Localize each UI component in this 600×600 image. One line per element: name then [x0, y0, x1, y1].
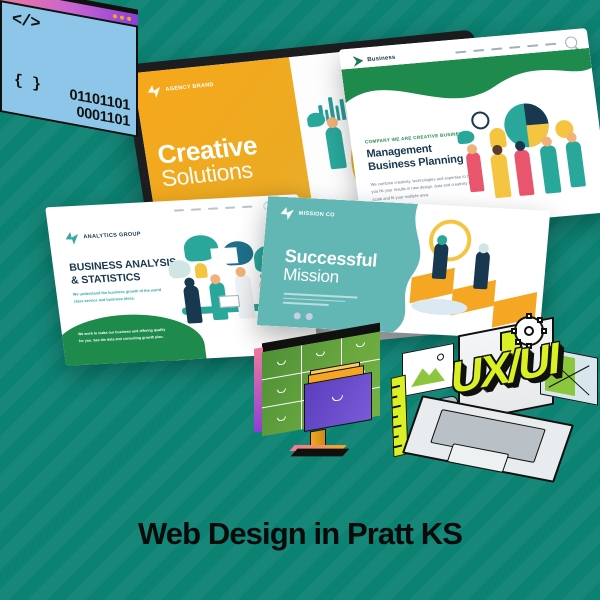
imac-brand-logo: AGENCY BRAND: [147, 72, 282, 98]
laptop-icon: [219, 295, 241, 308]
code-brace-icon: { }: [14, 72, 41, 94]
nav-item-about[interactable]: [191, 208, 201, 211]
mission-logo[interactable]: MISSION CO: [280, 207, 335, 223]
mission-pagination-dots[interactable]: [293, 312, 313, 320]
mgmt-people-illustration: [454, 87, 600, 224]
pie-chart-slice: [524, 102, 549, 126]
ruler-tick: [394, 435, 399, 438]
ruler-tick: [393, 425, 401, 428]
divider: [301, 345, 302, 429]
ba-footer-text: We work to make our business and offerin…: [78, 326, 172, 345]
nav-item-team[interactable]: [225, 206, 235, 209]
pagination-dot[interactable]: [305, 313, 313, 320]
nav-item-about[interactable]: [473, 49, 484, 52]
nav-item-service[interactable]: [208, 207, 218, 210]
imac-headline: Creative Solutions: [156, 129, 296, 191]
drawer-handle[interactable]: [316, 351, 325, 357]
nav-item-portfolio[interactable]: [509, 46, 520, 49]
nav-item-blog[interactable]: [527, 44, 538, 47]
pagination-dot[interactable]: [293, 312, 301, 319]
person-figure: [490, 153, 512, 198]
mission-brand-name: MISSION CO: [298, 211, 335, 219]
speech-bubble-icon: [306, 112, 326, 128]
lightbulb-icon: [194, 263, 208, 278]
poster-canvas: AGENCY BRAND Creative Solutions Digital …: [0, 0, 600, 600]
mgmt-logo-text: Business: [367, 55, 396, 63]
person-figure: [465, 152, 484, 193]
play-arrow-icon: [352, 55, 364, 67]
window-dot[interactable]: [113, 14, 117, 19]
isometric-file-cabinet-monitor[interactable]: [248, 336, 408, 476]
person-figure: [183, 285, 203, 323]
drawer-handle[interactable]: [277, 388, 286, 394]
brand-glyph-icon: [65, 232, 80, 246]
cabinet-stand-base: [290, 449, 349, 457]
ruler-tick: [392, 395, 397, 398]
ba-logo[interactable]: ANALYTICS GROUP: [65, 228, 142, 245]
isometric-laptop-uxui[interactable]: UX/UI: [398, 322, 598, 490]
ruler-tick: [393, 405, 401, 408]
nav-item-home[interactable]: [455, 51, 466, 54]
nav-item-blog[interactable]: [242, 206, 252, 209]
ba-headline-line2: & STATISTICS: [70, 272, 141, 288]
page-title: Web Design in Pratt KS: [0, 516, 600, 552]
ruler-tick: [392, 385, 400, 388]
mission-headline: Successful Mission: [282, 247, 377, 288]
window-dot[interactable]: [120, 15, 124, 20]
stopwatch-icon: [470, 111, 490, 130]
drawer-handle[interactable]: [277, 360, 286, 366]
gear-tooth: [541, 328, 547, 334]
ruler-tick: [394, 444, 402, 447]
mountain-glyph: [411, 359, 445, 388]
drawer-handle[interactable]: [356, 342, 365, 348]
speech-bubble-icon: [457, 130, 476, 144]
ba-brand-name: ANALYTICS GROUP: [83, 232, 141, 241]
person-figure: [565, 141, 586, 188]
nav-item-services[interactable]: [491, 47, 502, 50]
ba-paragraph: We understand the business growth of the…: [72, 287, 172, 306]
successful-mission-card[interactable]: MISSION CO Successful Mission: [257, 196, 551, 340]
person-figure: [514, 149, 535, 196]
gear-tooth: [511, 328, 517, 334]
search-icon[interactable]: [564, 36, 578, 49]
nav-item-home[interactable]: [174, 209, 184, 212]
gear-tooth: [537, 317, 543, 323]
window-dot[interactable]: [127, 17, 131, 22]
speech-bubble-icon: [167, 260, 191, 279]
mgmt-logo[interactable]: Business: [352, 52, 397, 67]
bar-chart-icon: [210, 247, 238, 264]
ruler-tick: [393, 415, 398, 418]
brand-glyph-icon: [147, 84, 162, 98]
text-line: [283, 302, 329, 306]
binary-text: 01101101 0001101: [69, 86, 130, 130]
imac-brand-name: AGENCY BRAND: [165, 82, 214, 93]
drawer-handle[interactable]: [277, 416, 286, 422]
person-figure: [325, 126, 348, 169]
gear-tooth: [526, 313, 532, 319]
image-icon[interactable]: [402, 343, 454, 397]
code-angle-bracket-icon: </>: [12, 10, 40, 34]
person-figure: [539, 145, 561, 194]
brand-glyph-icon: [280, 207, 294, 221]
sun-glyph: [437, 353, 444, 361]
nav-item-contact[interactable]: [545, 43, 556, 46]
